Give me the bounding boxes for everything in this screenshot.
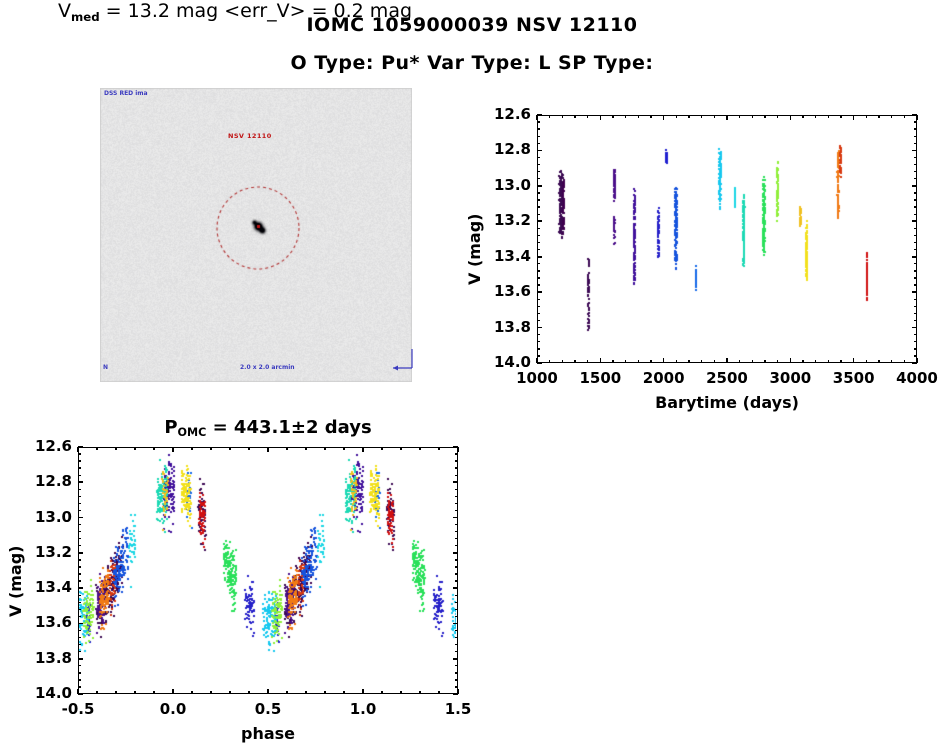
y-minor-tick — [537, 136, 540, 137]
y-minor-tick — [537, 192, 540, 193]
y-minor-tick — [537, 270, 540, 271]
y-minor-tick-right — [455, 496, 458, 497]
x-minor-tick — [739, 360, 740, 363]
y-minor-tick-right — [914, 143, 917, 144]
x-minor-tick-top — [96, 447, 97, 450]
y-minor-tick — [537, 249, 540, 250]
y-major-tick — [78, 481, 83, 483]
y-minor-tick-right — [455, 630, 458, 631]
x-minor-tick-top — [248, 447, 249, 450]
y-minor-tick — [78, 651, 81, 652]
y-tick-label: 13.2 — [485, 211, 531, 229]
x-minor-tick — [248, 691, 249, 694]
x-major-tick-top — [172, 447, 174, 452]
x-minor-tick — [305, 691, 306, 694]
x-minor-tick-top — [828, 115, 829, 118]
y-tick-label: 14.0 — [485, 353, 531, 371]
y-minor-tick — [537, 178, 540, 179]
x-minor-tick — [815, 360, 816, 363]
y-minor-tick-right — [455, 489, 458, 490]
x-minor-tick-top — [438, 447, 439, 450]
y-major-tick — [537, 256, 542, 258]
y-minor-tick-right — [455, 453, 458, 454]
y-minor-tick — [78, 672, 81, 673]
y-major-tick-right — [453, 517, 458, 519]
x-minor-tick — [153, 691, 154, 694]
y-minor-tick-right — [914, 171, 917, 172]
x-minor-tick — [587, 360, 588, 363]
y-minor-tick-right — [455, 595, 458, 596]
x-minor-tick-top — [802, 115, 803, 118]
x-tick-label: 0.0 — [133, 700, 213, 718]
y-minor-tick — [537, 143, 540, 144]
y-minor-tick — [78, 545, 81, 546]
y-minor-tick-right — [455, 545, 458, 546]
x-major-tick — [853, 358, 855, 363]
y-minor-tick — [537, 157, 540, 158]
x-minor-tick-top — [891, 115, 892, 118]
y-major-tick — [78, 693, 83, 695]
phase-folded-plot: POMC = 443.1±2 days V (mag) phase -0.50.… — [0, 400, 944, 747]
y-minor-tick — [78, 489, 81, 490]
x-minor-tick — [802, 360, 803, 363]
phase-plot-points — [79, 448, 456, 692]
y-minor-tick — [537, 348, 540, 349]
y-tick-label: 12.6 — [485, 105, 531, 123]
x-tick-label: 0.5 — [228, 700, 308, 718]
x-minor-tick — [381, 691, 382, 694]
x-major-tick — [362, 689, 364, 694]
y-minor-tick — [78, 602, 81, 603]
y-minor-tick-right — [914, 263, 917, 264]
x-minor-tick — [764, 360, 765, 363]
x-minor-tick-top — [752, 115, 753, 118]
y-major-tick-right — [912, 114, 917, 116]
x-minor-tick — [752, 360, 753, 363]
y-minor-tick-right — [455, 580, 458, 581]
y-minor-tick-right — [455, 460, 458, 461]
x-minor-tick-top — [210, 447, 211, 450]
y-tick-label: 13.8 — [485, 318, 531, 336]
y-minor-tick-right — [455, 686, 458, 687]
y-tick-label: 13.4 — [485, 247, 531, 265]
y-minor-tick-right — [914, 235, 917, 236]
y-minor-tick-right — [455, 531, 458, 532]
y-minor-tick — [78, 580, 81, 581]
x-minor-tick — [866, 360, 867, 363]
y-minor-tick-right — [455, 651, 458, 652]
x-minor-tick — [638, 360, 639, 363]
x-minor-tick-top — [840, 115, 841, 118]
x-minor-tick-top — [878, 115, 879, 118]
x-minor-tick — [562, 360, 563, 363]
y-major-tick — [78, 552, 83, 554]
y-minor-tick-right — [455, 573, 458, 574]
x-minor-tick-top — [587, 115, 588, 118]
y-minor-tick — [78, 595, 81, 596]
y-minor-tick — [537, 299, 540, 300]
y-minor-tick-right — [455, 665, 458, 666]
y-minor-tick — [78, 538, 81, 539]
y-minor-tick-right — [455, 644, 458, 645]
y-minor-tick — [537, 235, 540, 236]
x-minor-tick-top — [229, 447, 230, 450]
y-minor-tick — [537, 171, 540, 172]
x-minor-tick — [777, 360, 778, 363]
y-major-tick-right — [912, 362, 917, 364]
y-minor-tick — [78, 524, 81, 525]
y-minor-tick-right — [914, 157, 917, 158]
y-minor-tick-right — [914, 277, 917, 278]
x-minor-tick-top — [714, 115, 715, 118]
light-curve-points — [538, 116, 915, 361]
x-minor-tick-top — [676, 115, 677, 118]
y-minor-tick — [78, 679, 81, 680]
y-minor-tick — [537, 334, 540, 335]
x-minor-tick-top — [739, 115, 740, 118]
y-minor-tick — [78, 531, 81, 532]
y-minor-tick — [78, 453, 81, 454]
y-major-tick-right — [453, 693, 458, 695]
y-minor-tick — [537, 341, 540, 342]
y-minor-tick-right — [455, 566, 458, 567]
light-curve-plot: V (mag) Barytime (days) 1000150020002500… — [0, 0, 944, 410]
y-minor-tick — [78, 503, 81, 504]
y-minor-tick-right — [455, 524, 458, 525]
x-major-tick-top — [663, 115, 665, 120]
x-minor-tick-top — [286, 447, 287, 450]
period-value: = 443.1±2 days — [206, 417, 371, 438]
x-minor-tick — [324, 691, 325, 694]
y-minor-tick-right — [914, 164, 917, 165]
x-minor-tick-top — [638, 115, 639, 118]
x-minor-tick-top — [866, 115, 867, 118]
x-major-tick — [267, 689, 269, 694]
y-minor-tick-right — [455, 679, 458, 680]
x-minor-tick-top — [134, 447, 135, 450]
y-tick-label: 13.6 — [485, 282, 531, 300]
x-minor-tick — [688, 360, 689, 363]
x-minor-tick — [210, 691, 211, 694]
y-minor-tick — [537, 199, 540, 200]
y-major-tick — [537, 150, 542, 152]
x-minor-tick-top — [612, 115, 613, 118]
x-major-tick-top — [790, 115, 792, 120]
y-major-tick — [78, 517, 83, 519]
y-minor-tick-right — [914, 313, 917, 314]
y-major-tick-right — [453, 623, 458, 625]
y-minor-tick-right — [455, 637, 458, 638]
y-major-tick — [537, 114, 542, 116]
x-minor-tick-top — [343, 447, 344, 450]
y-minor-tick — [78, 630, 81, 631]
y-tick-label: 13.8 — [26, 649, 72, 667]
x-minor-tick — [676, 360, 677, 363]
y-major-tick — [78, 587, 83, 589]
x-minor-tick — [904, 360, 905, 363]
y-minor-tick-right — [914, 270, 917, 271]
x-major-tick-top — [362, 447, 364, 452]
y-minor-tick-right — [455, 503, 458, 504]
y-minor-tick-right — [455, 475, 458, 476]
x-minor-tick — [229, 691, 230, 694]
phase-plot-title: POMC = 443.1±2 days — [118, 417, 418, 438]
x-minor-tick — [134, 691, 135, 694]
light-curve-frame — [537, 115, 917, 363]
x-tick-label: 1.0 — [323, 700, 403, 718]
y-minor-tick — [78, 475, 81, 476]
x-minor-tick-top — [764, 115, 765, 118]
y-major-tick-right — [453, 587, 458, 589]
y-minor-tick — [78, 496, 81, 497]
y-minor-tick — [78, 644, 81, 645]
x-minor-tick-top — [381, 447, 382, 450]
x-minor-tick-top — [650, 115, 651, 118]
y-minor-tick-right — [914, 334, 917, 335]
phase-plot-frame — [78, 447, 458, 694]
x-major-tick-top — [726, 115, 728, 120]
y-major-tick-right — [453, 552, 458, 554]
y-minor-tick — [537, 128, 540, 129]
y-minor-tick-right — [914, 136, 917, 137]
y-tick-label: 12.8 — [485, 140, 531, 158]
y-major-tick — [78, 446, 83, 448]
y-minor-tick-right — [914, 348, 917, 349]
y-tick-label: 13.6 — [26, 613, 72, 631]
y-minor-tick — [537, 263, 540, 264]
y-major-tick-right — [912, 185, 917, 187]
x-minor-tick-top — [904, 115, 905, 118]
period-subscript: OMC — [178, 426, 207, 439]
phase-x-axis-title: phase — [168, 724, 368, 743]
x-minor-tick-top — [419, 447, 420, 450]
x-minor-tick — [549, 360, 550, 363]
y-minor-tick-right — [914, 320, 917, 321]
x-minor-tick — [438, 691, 439, 694]
x-minor-tick — [840, 360, 841, 363]
x-minor-tick-top — [115, 447, 116, 450]
x-minor-tick-top — [701, 115, 702, 118]
y-minor-tick — [537, 313, 540, 314]
x-minor-tick — [891, 360, 892, 363]
period-symbol: P — [164, 417, 177, 438]
y-major-tick-right — [912, 220, 917, 222]
x-minor-tick — [286, 691, 287, 694]
x-minor-tick — [574, 360, 575, 363]
x-minor-tick — [701, 360, 702, 363]
x-minor-tick-top — [574, 115, 575, 118]
y-minor-tick-right — [914, 341, 917, 342]
y-minor-tick — [78, 467, 81, 468]
y-minor-tick — [78, 616, 81, 617]
y-minor-tick — [537, 242, 540, 243]
x-minor-tick — [878, 360, 879, 363]
y-tick-label: 13.0 — [26, 508, 72, 526]
x-major-tick-top — [853, 115, 855, 120]
y-minor-tick — [78, 566, 81, 567]
x-tick-label: 4000 — [877, 369, 944, 387]
x-minor-tick — [612, 360, 613, 363]
y-tick-label: 12.6 — [26, 437, 72, 455]
y-major-tick-right — [912, 256, 917, 258]
y-minor-tick-right — [914, 128, 917, 129]
x-minor-tick-top — [549, 115, 550, 118]
y-minor-tick-right — [914, 199, 917, 200]
x-minor-tick-top — [815, 115, 816, 118]
y-major-tick — [537, 327, 542, 329]
x-minor-tick — [625, 360, 626, 363]
x-minor-tick — [650, 360, 651, 363]
y-major-tick — [537, 220, 542, 222]
y-tick-label: 12.8 — [26, 472, 72, 490]
y-major-tick — [537, 185, 542, 187]
y-major-tick-right — [912, 327, 917, 329]
y-minor-tick-right — [455, 559, 458, 560]
x-minor-tick-top — [688, 115, 689, 118]
x-minor-tick-top — [562, 115, 563, 118]
x-minor-tick-top — [400, 447, 401, 450]
y-major-tick-right — [453, 658, 458, 660]
y-minor-tick-right — [914, 299, 917, 300]
y-major-tick-right — [912, 291, 917, 293]
x-minor-tick-top — [305, 447, 306, 450]
y-major-tick — [537, 362, 542, 364]
y-minor-tick-right — [914, 242, 917, 243]
x-minor-tick — [714, 360, 715, 363]
y-minor-tick — [537, 164, 540, 165]
y-minor-tick-right — [914, 228, 917, 229]
y-minor-tick-right — [455, 616, 458, 617]
x-minor-tick — [343, 691, 344, 694]
x-minor-tick-top — [625, 115, 626, 118]
x-major-tick — [600, 358, 602, 363]
y-minor-tick-right — [455, 602, 458, 603]
y-minor-tick-right — [455, 538, 458, 539]
y-minor-tick-right — [914, 306, 917, 307]
y-minor-tick-right — [914, 355, 917, 356]
x-tick-label: -0.5 — [38, 700, 118, 718]
x-major-tick — [790, 358, 792, 363]
y-major-tick-right — [453, 481, 458, 483]
y-major-tick-right — [453, 446, 458, 448]
light-curve-y-axis-title: V (mag) — [465, 214, 484, 286]
y-minor-tick-right — [455, 672, 458, 673]
y-minor-tick-right — [914, 214, 917, 215]
x-major-tick — [172, 689, 174, 694]
y-minor-tick — [78, 559, 81, 560]
x-minor-tick — [115, 691, 116, 694]
y-minor-tick-right — [455, 609, 458, 610]
y-minor-tick — [537, 306, 540, 307]
y-minor-tick — [78, 686, 81, 687]
y-minor-tick-right — [914, 178, 917, 179]
x-minor-tick — [400, 691, 401, 694]
y-minor-tick — [537, 214, 540, 215]
y-major-tick — [78, 658, 83, 660]
x-minor-tick — [191, 691, 192, 694]
x-minor-tick — [828, 360, 829, 363]
phase-y-axis-title: V (mag) — [6, 545, 25, 617]
y-major-tick — [78, 623, 83, 625]
y-minor-tick — [537, 284, 540, 285]
x-tick-label: 1.5 — [418, 700, 498, 718]
y-major-tick-right — [912, 150, 917, 152]
x-minor-tick-top — [777, 115, 778, 118]
y-minor-tick — [78, 460, 81, 461]
y-minor-tick — [537, 206, 540, 207]
y-minor-tick-right — [455, 510, 458, 511]
x-major-tick — [663, 358, 665, 363]
x-major-tick — [726, 358, 728, 363]
y-tick-label: 14.0 — [26, 684, 72, 702]
x-minor-tick-top — [191, 447, 192, 450]
y-minor-tick-right — [914, 192, 917, 193]
y-tick-label: 13.4 — [26, 578, 72, 596]
y-minor-tick — [537, 320, 540, 321]
y-minor-tick — [537, 228, 540, 229]
y-minor-tick-right — [914, 206, 917, 207]
y-major-tick — [537, 291, 542, 293]
y-minor-tick — [537, 277, 540, 278]
y-minor-tick-right — [914, 249, 917, 250]
y-minor-tick-right — [914, 121, 917, 122]
y-minor-tick-right — [914, 284, 917, 285]
y-tick-label: 13.2 — [26, 543, 72, 561]
x-major-tick-top — [600, 115, 602, 120]
y-minor-tick — [78, 665, 81, 666]
x-minor-tick-top — [153, 447, 154, 450]
y-minor-tick — [537, 121, 540, 122]
x-major-tick-top — [267, 447, 269, 452]
x-minor-tick-top — [324, 447, 325, 450]
y-minor-tick — [78, 510, 81, 511]
y-tick-label: 13.0 — [485, 176, 531, 194]
y-minor-tick — [78, 573, 81, 574]
y-minor-tick-right — [455, 467, 458, 468]
y-minor-tick — [537, 355, 540, 356]
y-minor-tick — [78, 637, 81, 638]
x-minor-tick — [96, 691, 97, 694]
y-minor-tick — [78, 609, 81, 610]
x-minor-tick — [419, 691, 420, 694]
